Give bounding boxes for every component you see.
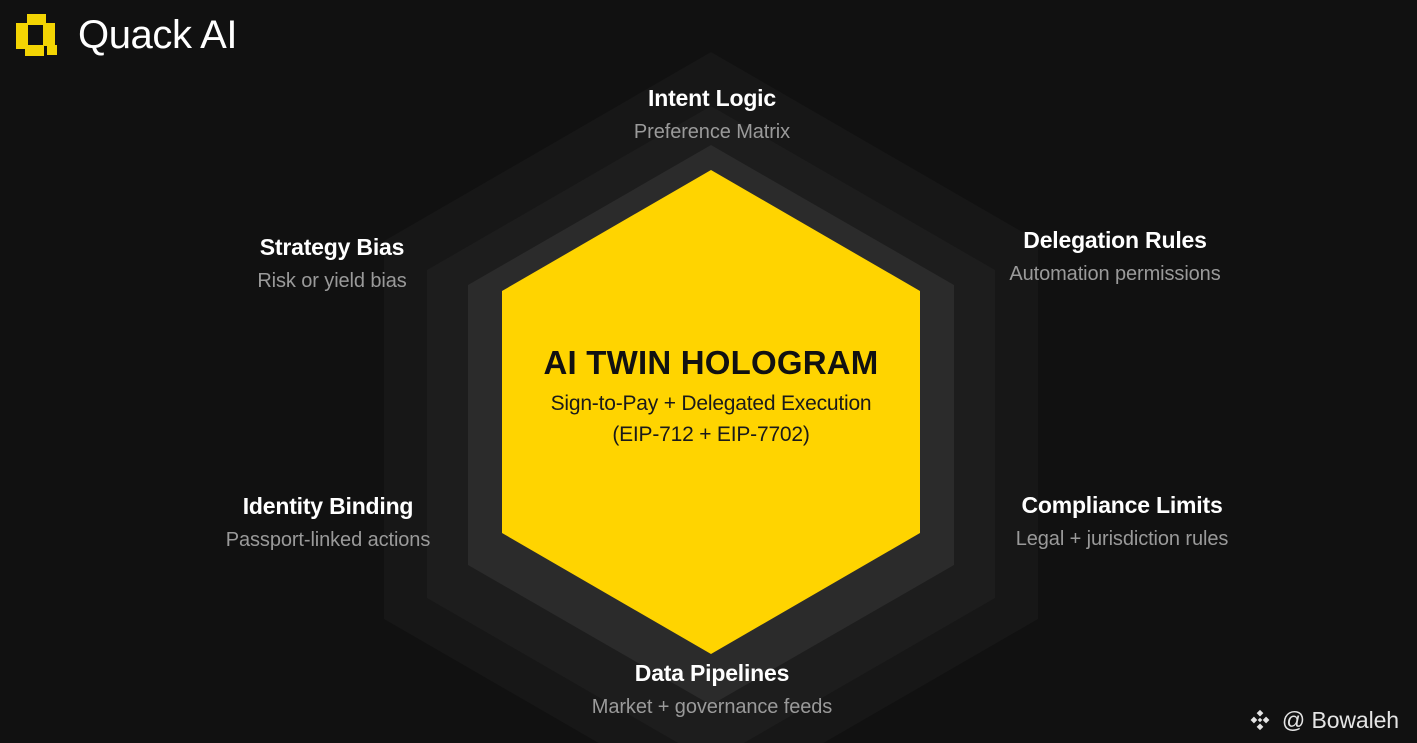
node-subtitle: Legal + jurisdiction rules [942,527,1302,552]
node-subtitle: Risk or yield bias [152,269,512,294]
binance-diamond-icon [1247,707,1273,733]
slide-canvas: Quack AI AI TWIN HOLOGRAM Sign-to-Pay + … [0,0,1417,743]
node-subtitle: Automation permissions [935,262,1295,287]
node-subtitle: Preference Matrix [532,120,892,145]
watermark: @ Bowaleh [1247,707,1399,733]
node-delegation-rules[interactable]: Delegation Rules Automation permissions [935,226,1295,286]
node-intent-logic[interactable]: Intent Logic Preference Matrix [532,84,892,144]
brand-name: Quack AI [78,15,237,55]
node-subtitle: Passport-linked actions [148,528,508,553]
node-title: Delegation Rules [935,226,1295,255]
brand-lockup: Quack AI [14,12,237,58]
node-title: Compliance Limits [942,491,1302,520]
quack-q-logo-icon [14,12,60,58]
node-title: Data Pipelines [532,659,892,688]
node-title: Intent Logic [532,84,892,113]
node-strategy-bias[interactable]: Strategy Bias Risk or yield bias [152,233,512,293]
node-title: Strategy Bias [152,233,512,262]
node-title: Identity Binding [148,492,508,521]
node-subtitle: Market + governance feeds [532,695,892,720]
node-identity-binding[interactable]: Identity Binding Passport-linked actions [148,492,508,552]
watermark-handle: @ Bowaleh [1282,709,1399,732]
node-data-pipelines[interactable]: Data Pipelines Market + governance feeds [532,659,892,719]
node-compliance-limits[interactable]: Compliance Limits Legal + jurisdiction r… [942,491,1302,551]
